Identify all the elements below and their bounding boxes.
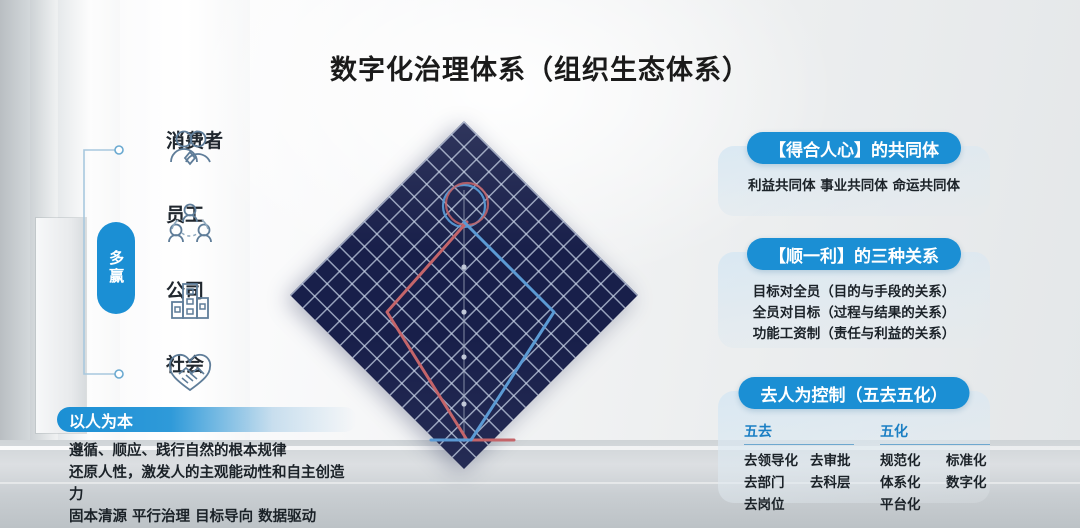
card-relations-line: 全员对目标（过程与结果的关系） — [718, 303, 990, 324]
cell: 去岗位 — [744, 494, 800, 516]
column-row: 平台化 — [880, 494, 990, 516]
people-first-line: 固本清源 平行治理 目标导向 数据驱动 — [69, 506, 357, 528]
column-title: 五化 — [880, 421, 990, 445]
people-first-line: 还原人性，激发人的主观能动性和自主创造力 — [69, 462, 357, 506]
people-first-header-label: 以人为本 — [57, 408, 133, 432]
card-decontrol[interactable]: 去人为控制（五去五化） 五去 去领导化 去审批 去部门 去科层 去岗位 五化 — [718, 391, 990, 503]
column-row: 去部门 去科层 — [744, 472, 854, 494]
card-community-header-label: 【得合人心】的共同体 — [769, 136, 939, 161]
people-first-line: 遵循、顺应、践行自然的根本规律 — [69, 440, 357, 462]
card-community-header: 【得合人心】的共同体 — [747, 132, 961, 164]
cell: 去科层 — [810, 472, 851, 494]
stakeholder-chain: 多赢 消费者 — [56, 126, 306, 398]
people-first-block: 以人为本 遵循、顺应、践行自然的根本规律 还原人性，激发人的主观能动性和自主创造… — [57, 407, 357, 528]
column-five-removals: 五去 去领导化 去审批 去部门 去科层 去岗位 — [744, 421, 854, 516]
card-relations-header: 【顺一利】的三种关系 — [747, 238, 961, 270]
page-title: 数字化治理体系（组织生态体系） — [0, 48, 1080, 87]
card-relations-header-label: 【顺一利】的三种关系 — [769, 242, 939, 267]
card-decontrol-header: 去人为控制（五去五化） — [739, 377, 970, 409]
column-five-izations: 五化 规范化 标准化 体系化 数字化 平台化 — [880, 421, 990, 516]
chain-item-company[interactable]: 公司 — [166, 276, 204, 303]
society-handshake-icon — [166, 350, 214, 398]
card-decontrol-header-label: 去人为控制（五去五化） — [761, 381, 948, 406]
consumer-people-icon — [166, 126, 214, 174]
card-decontrol-columns: 五去 去领导化 去审批 去部门 去科层 去岗位 五化 规范化 标准化 — [718, 391, 990, 516]
chain-item-society[interactable]: 社会 — [166, 350, 204, 377]
cell: 去领导化 — [744, 450, 800, 472]
hub-badge-multi-win: 多赢 — [97, 222, 135, 314]
cell: 规范化 — [880, 450, 936, 472]
cell: 体系化 — [880, 472, 936, 494]
cell: 数字化 — [946, 472, 987, 494]
cell: 去审批 — [810, 450, 851, 472]
column-title: 五去 — [744, 421, 854, 445]
card-relations[interactable]: 【顺一利】的三种关系 目标对全员（目的与手段的关系） 全员对目标（过程与结果的关… — [718, 252, 990, 348]
cell: 去部门 — [744, 472, 800, 494]
employee-team-icon — [166, 200, 214, 248]
card-community[interactable]: 【得合人心】的共同体 利益共同体 事业共同体 命运共同体 — [718, 146, 990, 216]
cell: 平台化 — [880, 494, 936, 516]
column-row: 体系化 数字化 — [880, 472, 990, 494]
hub-badge-label: 多赢 — [108, 250, 124, 286]
slide-canvas: 数字化治理体系（组织生态体系） — [0, 0, 1080, 528]
column-row: 规范化 标准化 — [880, 450, 990, 472]
column-row: 去领导化 去审批 — [744, 450, 854, 472]
chain-item-consumer[interactable]: 消费者 — [166, 126, 223, 153]
cell: 标准化 — [946, 450, 987, 472]
column-row: 去岗位 — [744, 494, 854, 516]
card-relations-line: 功能工资制（责任与利益的关系） — [718, 324, 990, 345]
company-building-icon — [166, 276, 214, 324]
card-community-line: 利益共同体 事业共同体 命运共同体 — [718, 176, 990, 197]
chain-item-employee[interactable]: 员工 — [166, 200, 204, 227]
card-relations-line: 目标对全员（目的与手段的关系） — [718, 282, 990, 303]
people-first-header: 以人为本 — [57, 407, 357, 432]
people-first-lines: 遵循、顺应、践行自然的根本规律 还原人性，激发人的主观能动性和自主创造力 固本清… — [57, 440, 357, 528]
